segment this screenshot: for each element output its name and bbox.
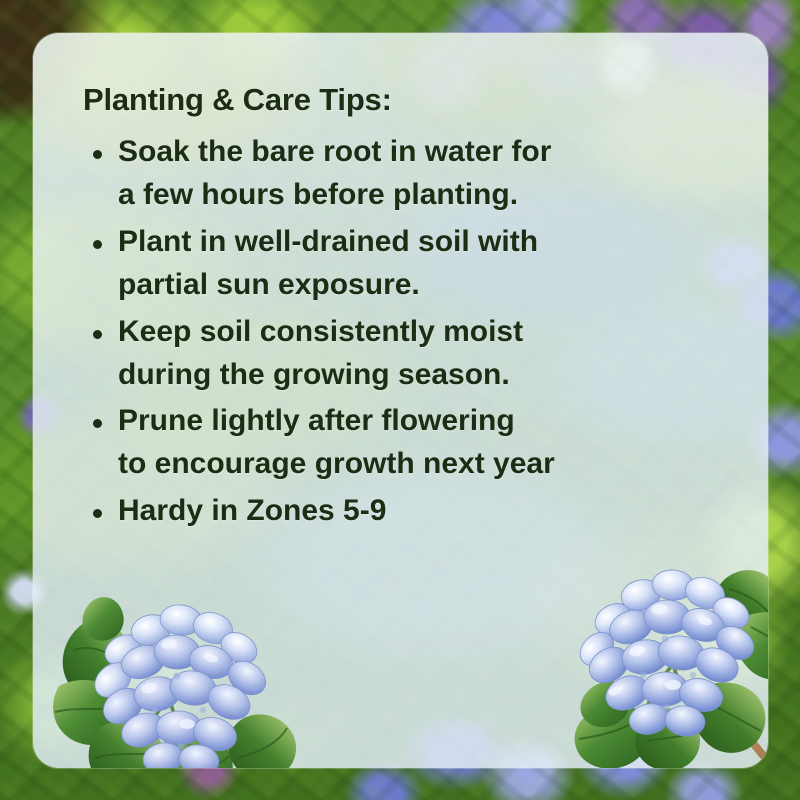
tip-line: a few hours before planting. (118, 174, 748, 217)
leaf-group-right (575, 570, 768, 768)
petal-cluster-left (88, 603, 272, 768)
tips-content: Planting & Care Tips: Soak the bare root… (58, 83, 748, 537)
tips-list: Soak the bare root in water for a few ho… (58, 131, 748, 533)
tip-line: Plant in well-drained soil with (118, 225, 538, 258)
tip-item: Plant in well-drained soil with partial … (58, 221, 748, 307)
tip-item: Keep soil consistently moist during the … (58, 311, 748, 397)
tip-item: Prune lightly after flowering to encoura… (58, 400, 748, 486)
tip-line: Soak the bare root in water for (118, 135, 551, 168)
tip-line: Prune lightly after flowering (118, 404, 515, 437)
tip-line: Keep soil consistently moist (118, 315, 523, 348)
tips-card-panel: Planting & Care Tips: Soak the bare root… (33, 33, 768, 768)
petal-cluster-right (574, 569, 760, 739)
tip-item: Hardy in Zones 5-9 (58, 490, 748, 533)
hydrangea-illustration-right (553, 561, 768, 768)
tip-line: Hardy in Zones 5-9 (118, 494, 386, 527)
hydrangea-illustration-left (51, 578, 321, 768)
leaf-group-left (53, 597, 296, 768)
tip-item: Soak the bare root in water for a few ho… (58, 131, 748, 217)
tip-line: partial sun exposure. (118, 264, 748, 307)
page-title: Planting & Care Tips: (58, 83, 748, 117)
poster-canvas: Planting & Care Tips: Soak the bare root… (0, 0, 800, 800)
tip-line: during the growing season. (118, 354, 748, 397)
tip-line: to encourage growth next year (118, 443, 748, 486)
